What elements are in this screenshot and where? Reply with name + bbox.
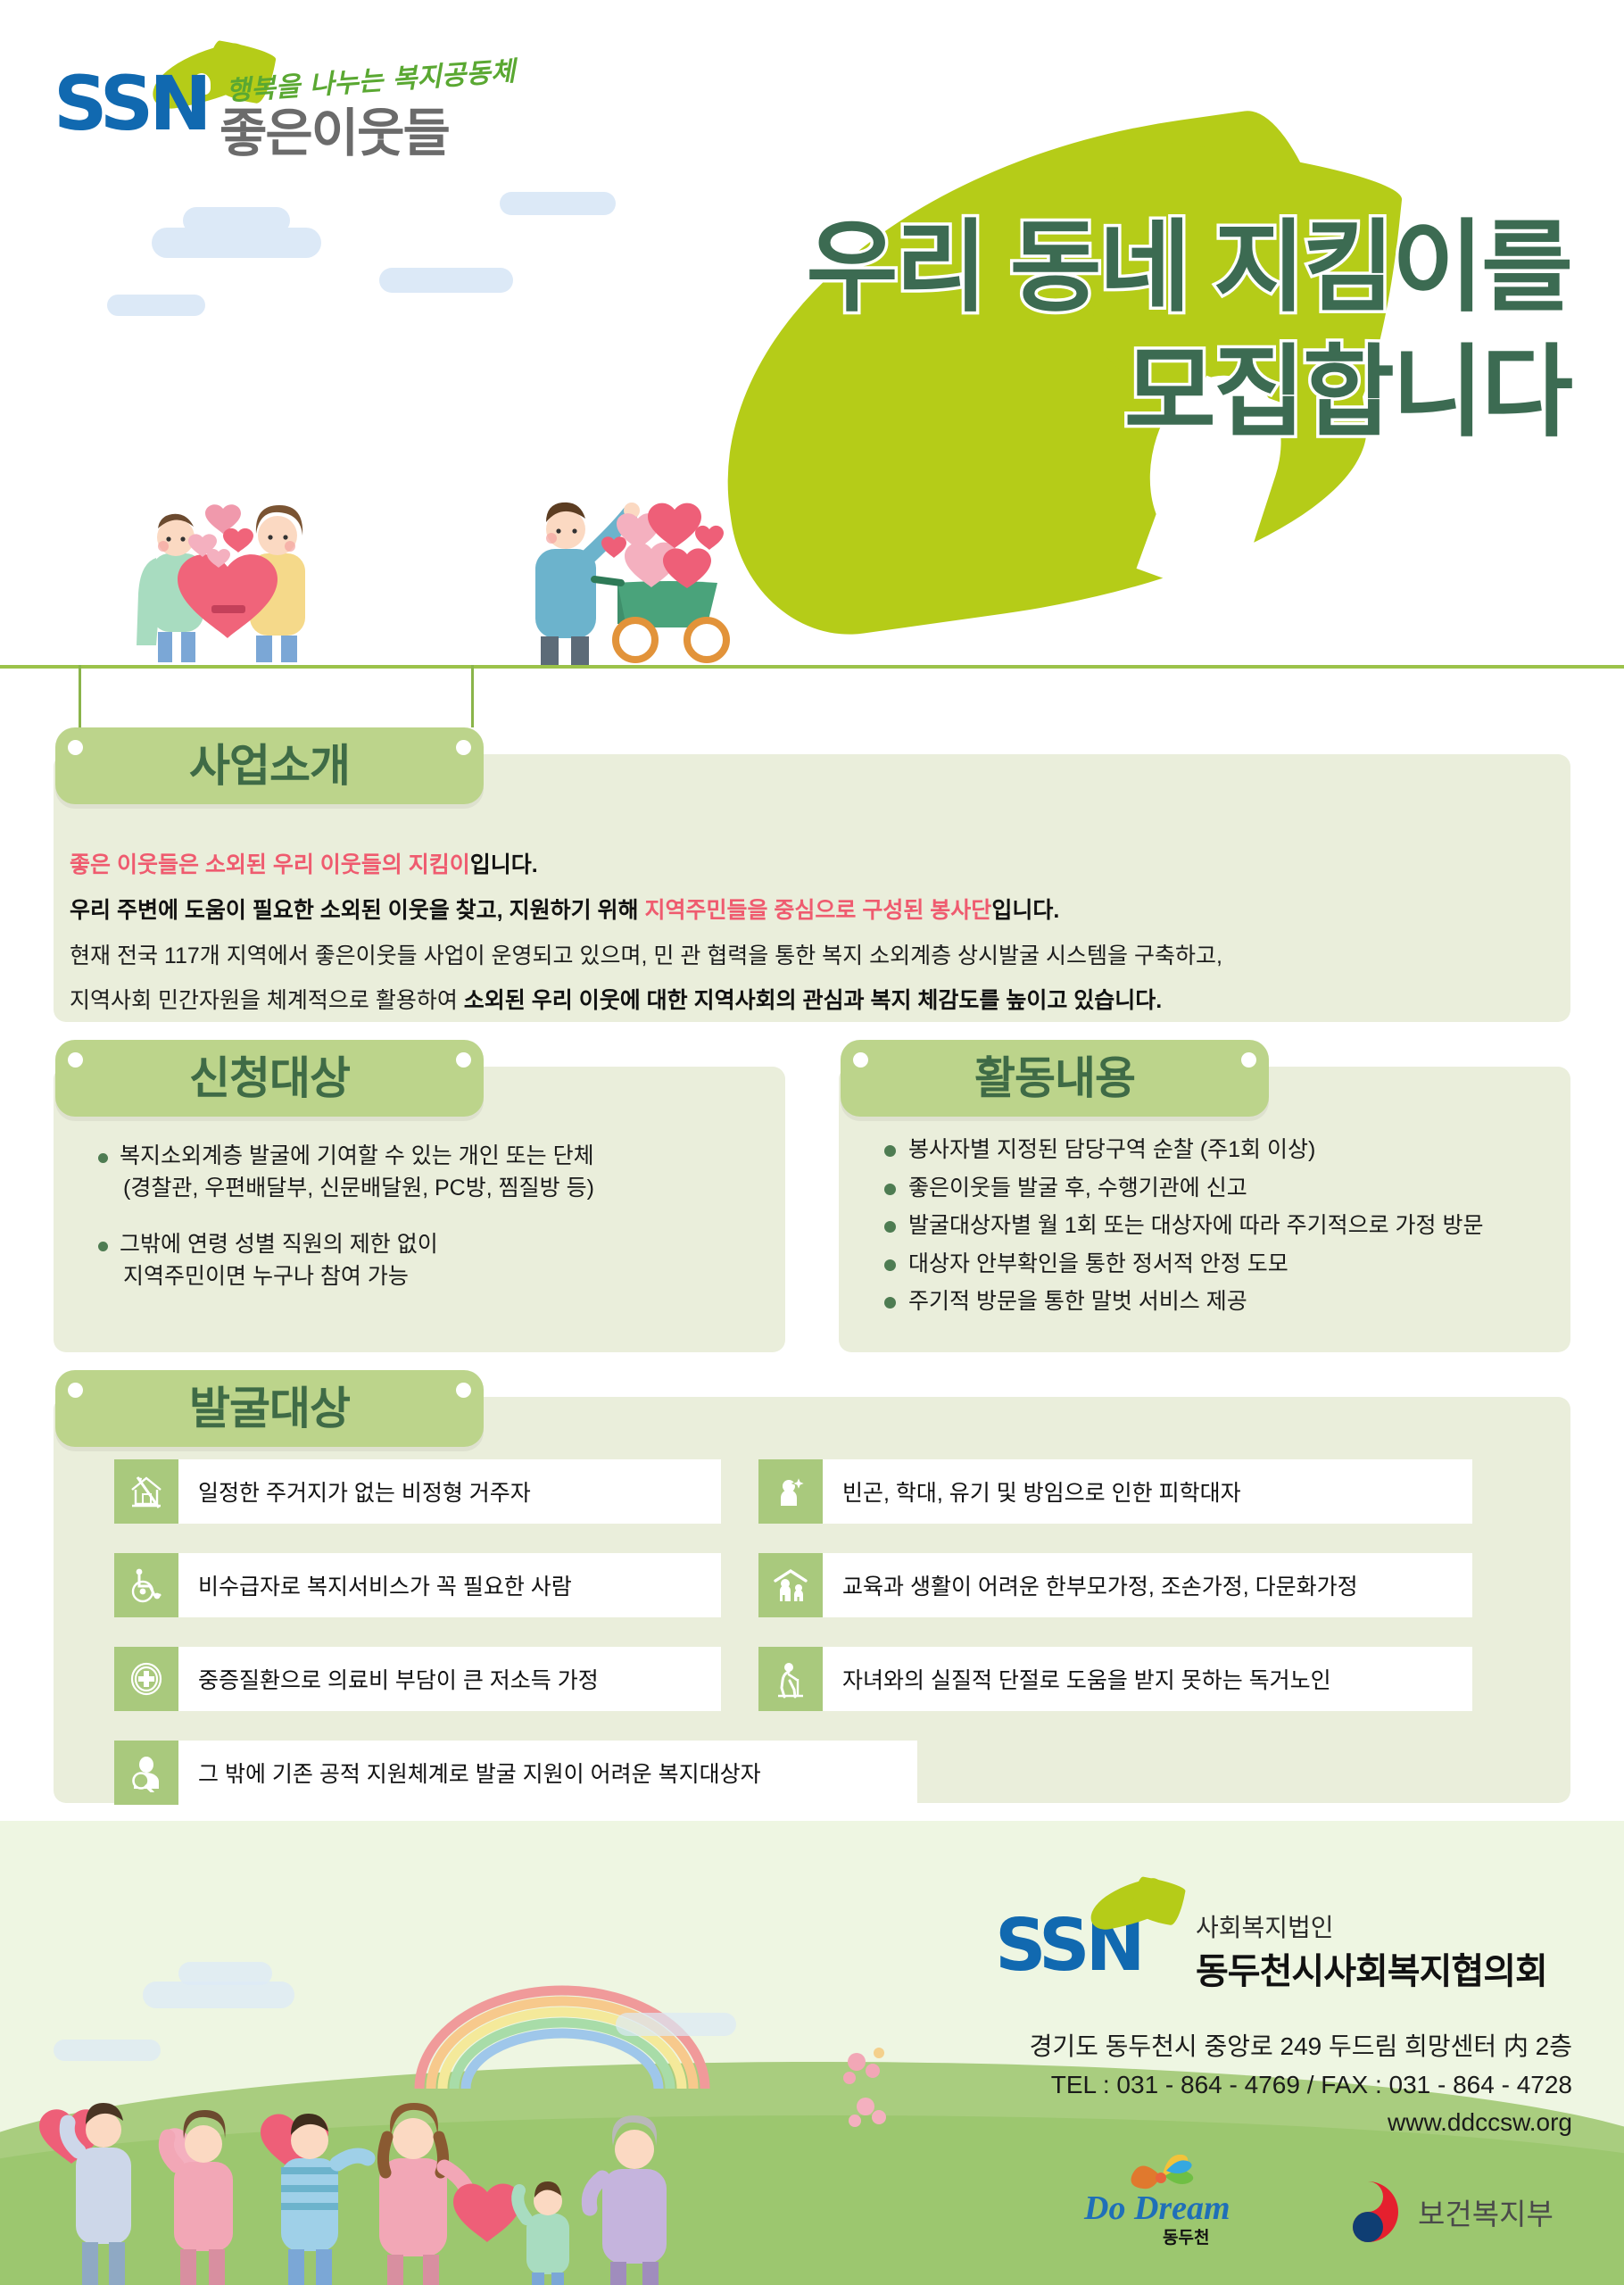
apply-item-1-main: 복지소외계층 발굴에 기여할 수 있는 개인 또는 단체 — [120, 1143, 594, 1168]
intro-line-2: 우리 주변에 도움이 필요한 소외된 이웃을 찾고, 지원하기 위해 지역주민들… — [70, 893, 1551, 928]
intro-line-4-pre: 지역사회 민간자원을 체계적으로 활용하여 — [70, 988, 464, 1013]
target-row: 교육과 생활이 어려운 한부모가정, 조손가정, 다문화가정 — [758, 1553, 1472, 1617]
cloud-shape — [107, 295, 205, 316]
activity-heading-text: 활동내용 — [974, 1056, 1135, 1101]
intro-body: 좋은 이웃들은 소외된 우리 이웃들의 지킴이입니다. 우리 주변에 도움이 필… — [70, 848, 1551, 1029]
cloud-shape — [379, 268, 513, 293]
activity-list-item: 대상자 안부확인을 통한 정서적 안정 도모 — [882, 1250, 1587, 1279]
intro-line-4-bold: 소외된 우리 이웃에 대한 지역사회의 관심과 복지 체감도를 높이고 있습니다… — [464, 988, 1162, 1013]
intro-line-2-highlight: 지역주민들을 중심으로 구성된 봉사단 — [644, 898, 991, 923]
plaque-dot — [456, 740, 471, 755]
cloud-shape — [616, 2013, 736, 2036]
plaque-dot — [456, 1052, 471, 1068]
target-row: 일정한 주거지가 없는 비정형 거주자 — [114, 1459, 721, 1524]
plaque-dot — [68, 1383, 83, 1398]
intro-heading-text: 사업소개 — [189, 744, 350, 788]
poster-header: SSN 행복을 나누는 복지공동체 좋은이웃들 우리 동네 지킴이를 모집합니다 — [0, 0, 1624, 665]
targets-heading-text: 발굴대상 — [189, 1386, 350, 1431]
ssn-logo-header: SSN 행복을 나누는 복지공동체 좋은이웃들 — [43, 30, 596, 124]
cloud-shape — [178, 1962, 272, 1985]
intro-line-3: 현재 전국 117개 지역에서 좋은이웃들 사업이 운영되고 있으며, 민 관 … — [70, 939, 1551, 974]
plaque-hanger-right — [471, 665, 474, 727]
dodream-subtitle: 동두천 — [1163, 2224, 1209, 2248]
wheelchair-icon — [114, 1553, 178, 1617]
target-label: 자녀와의 실질적 단절로 도움을 받지 못하는 독거노인 — [823, 1647, 1472, 1711]
flower-decoration — [830, 2035, 937, 2133]
poster-root: SSN 행복을 나누는 복지공동체 좋은이웃들 우리 동네 지킴이를 모집합니다 — [0, 0, 1624, 2285]
elderly-person-icon — [758, 1647, 823, 1711]
footer-phone: TEL : 031 - 864 - 4769 / FAX : 031 - 864… — [1030, 2066, 1572, 2105]
single-parent-home-icon — [758, 1553, 823, 1617]
footer-org-small: 사회복지법인 — [1196, 1908, 1334, 1944]
target-row: 자녀와의 실질적 단절로 도움을 받지 못하는 독거노인 — [758, 1647, 1472, 1711]
target-row: 그 밖에 기존 공적 지원체계로 발굴 지원이 어려운 복지대상자 — [114, 1741, 917, 1805]
cloud-shape — [143, 1982, 294, 2008]
cloud-shape — [183, 207, 290, 234]
apply-item-1-sub: (경찰관, 우편배달부, 신문배달원, PC방, 찜질방 등) — [120, 1173, 775, 1205]
activity-list-item: 좋은이웃들 발굴 후, 수행기관에 신고 — [882, 1174, 1587, 1203]
footer-website[interactable]: www.ddccsw.org — [1030, 2104, 1572, 2142]
activity-heading-plaque: 활동내용 — [841, 1040, 1269, 1117]
footer-contact: 경기도 동두천시 중앙로 249 두드림 희망센터 内 2층 TEL : 031… — [1030, 2028, 1572, 2142]
intro-line-2-rest: 입니다. — [991, 898, 1059, 923]
apply-list-item: 복지소외계층 발굴에 기여할 수 있는 개인 또는 단체 (경찰관, 우편배달부… — [96, 1141, 775, 1204]
cloud-shape — [54, 2040, 161, 2061]
targets-heading-plaque: 발굴대상 — [55, 1370, 484, 1447]
target-label: 비수급자로 복지서비스가 꼭 필요한 사람 — [178, 1553, 721, 1617]
intro-line-1-rest: 입니다. — [470, 852, 538, 877]
intro-line-1: 좋은 이웃들은 소외된 우리 이웃들의 지킴이입니다. — [70, 848, 1551, 883]
person-search-icon — [114, 1741, 178, 1805]
apply-heading-text: 신청대상 — [189, 1056, 350, 1101]
dodream-logo: Do Dream 동두천 — [1084, 2189, 1230, 2228]
abused-person-icon — [758, 1459, 823, 1524]
target-row: 빈곤, 학대, 유기 및 방임으로 인한 피학대자 — [758, 1459, 1472, 1524]
activity-list-item: 발굴대상자별 월 1회 또는 대상자에 따라 주기적으로 가정 방문 — [882, 1211, 1587, 1241]
apply-list-item: 그밖에 연령 성별 직원의 제한 없이 지역주민이면 누구나 참여 가능 — [96, 1229, 775, 1292]
plaque-dot — [1241, 1052, 1256, 1068]
footer-address: 경기도 동두천시 중앙로 249 두드림 희망센터 内 2층 — [1030, 2028, 1572, 2066]
plaque-dot — [853, 1052, 868, 1068]
activity-list-item: 봉사자별 지정된 담당구역 순찰 (주1회 이상) — [882, 1135, 1587, 1165]
intro-line-2-pre: 우리 주변에 도움이 필요한 소외된 이웃을 찾고, 지원하기 위해 — [70, 898, 644, 923]
poster-title: 우리 동네 지킴이를 모집합니다 — [571, 205, 1570, 455]
target-label: 그 밖에 기존 공적 지원체계로 발굴 지원이 어려운 복지대상자 — [178, 1741, 917, 1805]
apply-item-2-main: 그밖에 연령 성별 직원의 제한 없이 — [120, 1232, 438, 1257]
apply-list: 복지소외계층 발굴에 기여할 수 있는 개인 또는 단체 (경찰관, 우편배달부… — [96, 1141, 775, 1305]
plaque-hanger-left — [79, 665, 81, 727]
man-with-heart-cart-illustration — [518, 486, 812, 665]
activity-list-item: 주기적 방문을 통한 말벗 서비스 제공 — [882, 1287, 1587, 1317]
apply-heading-plaque: 신청대상 — [55, 1040, 484, 1117]
broken-house-icon — [114, 1459, 178, 1524]
intro-heading-plaque: 사업소개 — [55, 727, 484, 804]
ssn-logo-footer: SSN 사회복지법인 동두천시사회복지협의회 — [995, 1910, 1141, 1982]
taegeuk-icon — [1334, 2178, 1402, 2246]
target-label: 일정한 주거지가 없는 비정형 거주자 — [178, 1459, 721, 1524]
section-divider — [0, 665, 1624, 669]
ssn-wordmark: SSN — [54, 66, 208, 141]
brand-name: 좋은이웃들 — [220, 91, 449, 166]
intro-line-4: 지역사회 민간자원을 체계적으로 활용하여 소외된 우리 이웃에 대한 지역사회… — [70, 984, 1551, 1018]
plaque-dot — [456, 1383, 471, 1398]
footer-org-large: 동두천시사회복지협의회 — [1196, 1942, 1547, 1994]
ministry-logo: 보건복지부 — [1334, 2178, 1554, 2246]
intro-line-1-highlight: 좋은 이웃들은 소외된 우리 이웃들의 지킴이 — [70, 852, 470, 877]
target-row: 중증질환으로 의료비 부담이 큰 저소득 가정 — [114, 1647, 721, 1711]
target-row: 비수급자로 복지서비스가 꼭 필요한 사람 — [114, 1553, 721, 1617]
target-label: 교육과 생활이 어려운 한부모가정, 조손가정, 다문화가정 — [823, 1553, 1472, 1617]
couple-with-heart-illustration — [103, 473, 397, 665]
medical-cross-icon — [114, 1647, 178, 1711]
title-line-2: 모집합니다 — [571, 330, 1570, 455]
apply-item-2-sub: 지역주민이면 누구나 참여 가능 — [120, 1261, 775, 1293]
dodream-butterfly-icon — [1125, 2155, 1206, 2196]
target-label: 중증질환으로 의료비 부담이 큰 저소득 가정 — [178, 1647, 721, 1711]
title-line-1: 우리 동네 지킴이를 — [571, 205, 1570, 330]
activity-list: 봉사자별 지정된 담당구역 순찰 (주1회 이상) 좋은이웃들 발굴 후, 수행… — [882, 1135, 1587, 1325]
target-label: 빈곤, 학대, 유기 및 방임으로 인한 피학대자 — [823, 1459, 1472, 1524]
plaque-dot — [68, 740, 83, 755]
ministry-name: 보건복지부 — [1418, 2190, 1554, 2233]
plaque-dot — [68, 1052, 83, 1068]
